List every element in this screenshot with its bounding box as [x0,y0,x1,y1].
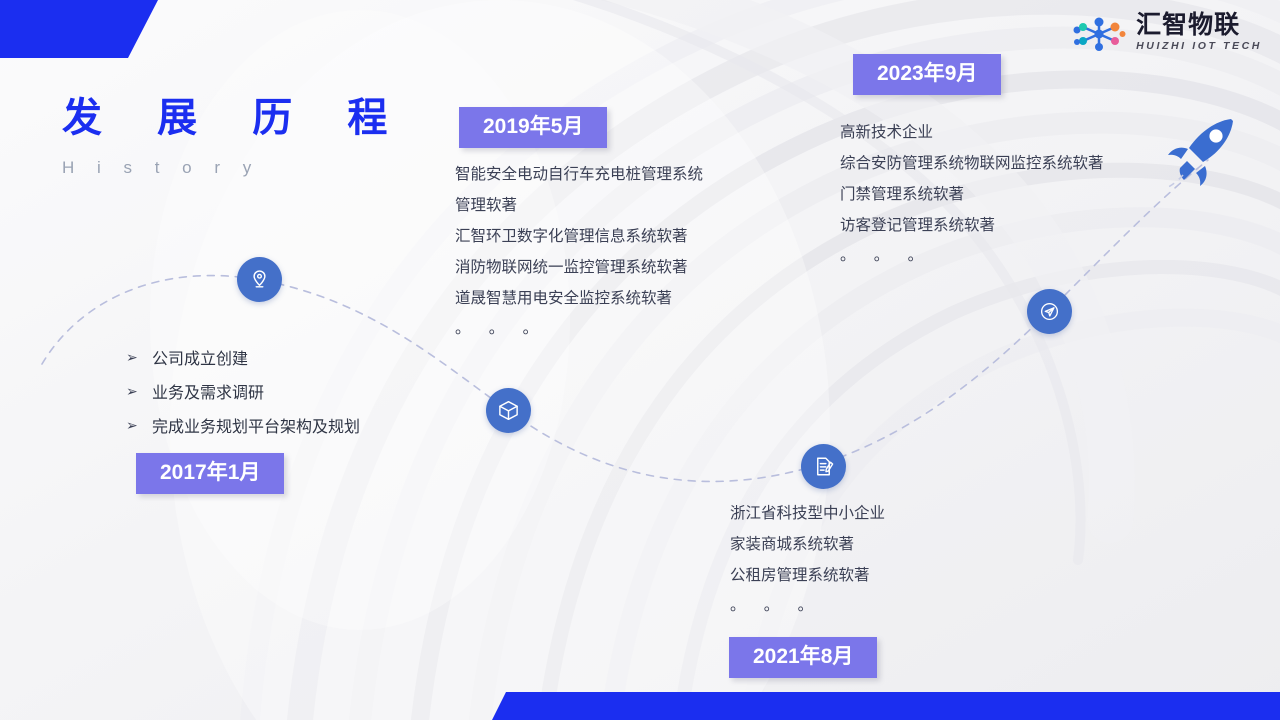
milestone-2023-date-badge[interactable]: 2023年9月 [853,54,1001,95]
milestone-2021-date-badge[interactable]: 2021年8月 [729,637,877,678]
milestone-2021-text: 浙江省科技型中小企业 家装商城系统软著 公租房管理系统软著 。 。 。 [730,498,885,621]
arrow-bullet-icon: ➢ [126,417,138,434]
text-line: 智能安全电动自行车充电桩管理系统 [455,159,703,190]
cube-box-icon [497,399,520,422]
list-item: ➢ 公司成立创建 [126,340,360,374]
timeline-node-2017[interactable] [237,257,282,302]
milestone-2019-date-badge[interactable]: 2019年5月 [459,107,607,148]
document-edit-icon [812,455,835,478]
text-line: 高新技术企业 [840,117,1104,148]
text-line: 综合安防管理系统物联网监控系统软著 [840,148,1104,179]
page-title-cn: 发 展 历 程 [62,96,409,140]
logo-wordmark: 汇智物联 HUIZHI IOT TECH [1136,12,1262,55]
slide-canvas: 汇智物联 HUIZHI IOT TECH 发 展 历 程 H i s t o r… [0,0,1280,720]
text-line: 门禁管理系统软著 [840,179,1104,210]
arrow-bullet-icon: ➢ [126,349,138,366]
send-plane-icon [1038,300,1061,323]
ellipsis-marker: 。 。 。 [730,591,885,621]
bullet-label: 业务及需求调研 [152,379,264,403]
text-line: 浙江省科技型中小企业 [730,498,885,529]
page-title: 发 展 历 程 H i s t o r y [62,96,409,178]
milestone-2017-date-badge[interactable]: 2017年1月 [136,453,284,494]
timeline-node-2021[interactable] [801,444,846,489]
bullet-label: 公司成立创建 [152,345,248,369]
milestone-2023-text: 高新技术企业 综合安防管理系统物联网监控系统软著 门禁管理系统软著 访客登记管理… [840,117,1104,271]
list-item: ➢ 业务及需求调研 [126,374,360,408]
text-line: 管理软著 [455,190,703,221]
ellipsis-marker: 。 。 。 [840,241,1104,271]
text-line: 道晟智慧用电安全监控系统软著 [455,283,703,314]
location-pin-icon [248,268,271,291]
arrow-bullet-icon: ➢ [126,383,138,400]
molecule-network-logo-icon [1073,14,1127,54]
text-line: 公租房管理系统软著 [730,560,885,591]
page-title-en: H i s t o r y [62,158,409,178]
list-item: ➢ 完成业务规划平台架构及规划 [126,408,360,442]
text-line: 家装商城系统软著 [730,529,885,560]
ellipsis-marker: 。 。 。 [455,314,703,344]
timeline-node-2019[interactable] [486,388,531,433]
text-line: 消防物联网统一监控管理系统软著 [455,252,703,283]
text-line: 访客登记管理系统软著 [840,210,1104,241]
bullet-label: 完成业务规划平台架构及规划 [152,413,360,437]
milestone-2019-text: 智能安全电动自行车充电桩管理系统 管理软著 汇智环卫数字化管理信息系统软著 消防… [455,159,703,344]
text-line: 汇智环卫数字化管理信息系统软著 [455,221,703,252]
milestone-2017-bullets: ➢ 公司成立创建 ➢ 业务及需求调研 ➢ 完成业务规划平台架构及规划 [126,340,360,442]
logo-name-cn: 汇智物联 [1136,12,1262,38]
logo-name-en: HUIZHI IOT TECH [1136,39,1262,55]
timeline-node-2023[interactable] [1027,289,1072,334]
company-logo: 汇智物联 HUIZHI IOT TECH [1073,12,1262,55]
rocket-icon [1163,115,1241,200]
